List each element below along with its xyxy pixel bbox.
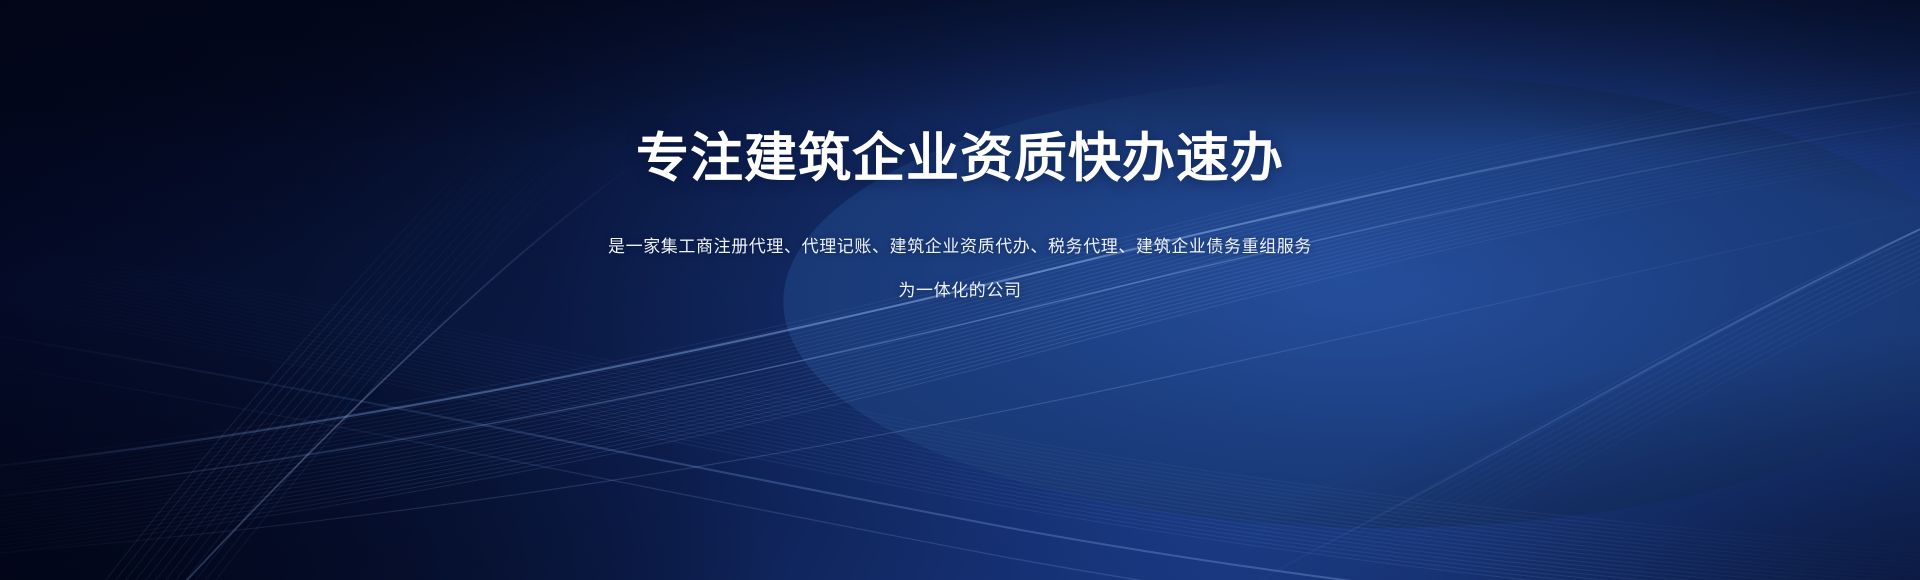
- hero-subtitle: 是一家集工商注册代理、代理记账、建筑企业资质代办、税务代理、建筑企业债务重组服务…: [605, 225, 1315, 313]
- hero-copy-block: 专注建筑企业资质快办速办 是一家集工商注册代理、代理记账、建筑企业资质代办、税务…: [0, 0, 1920, 580]
- hero-banner: 专注建筑企业资质快办速办 是一家集工商注册代理、代理记账、建筑企业资质代办、税务…: [0, 0, 1920, 580]
- page-title: 专注建筑企业资质快办速办: [636, 128, 1284, 191]
